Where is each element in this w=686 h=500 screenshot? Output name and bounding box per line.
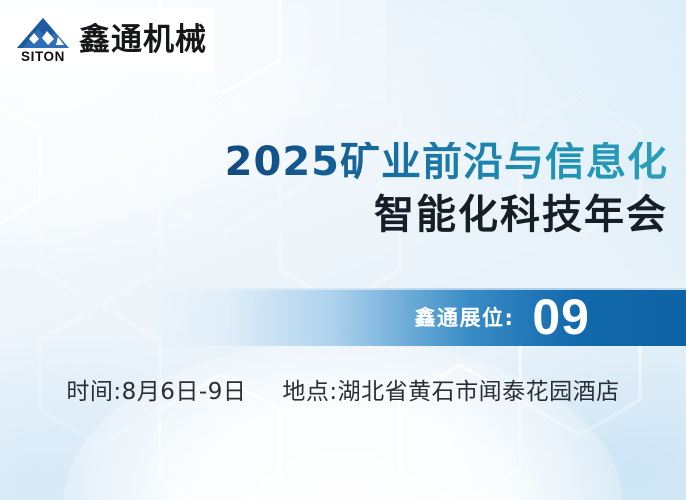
brand-logo-plate: SITON 鑫通机械 [0,8,214,72]
booth-number: 09 [532,292,590,342]
booth-banner: 鑫通展位: 09 [150,288,686,346]
brand-chinese-name: 鑫通机械 [79,25,207,56]
event-venue: 地点:湖北省黄石市闻泰花园酒店 [282,372,619,406]
headline-line-1: 2025矿业前沿与信息化 [225,142,668,184]
siton-mountain-logo-icon: SITON [14,17,72,63]
event-poster: SITON 鑫通机械 2025矿业前沿与信息化 智能化科技年会 鑫通展位: 09… [0,0,686,500]
event-info-row: 时间:8月6日-9日 地点:湖北省黄石市闻泰花园酒店 [0,372,686,406]
hexagon-pattern-icon [0,0,686,500]
background-decoration [0,0,686,500]
background-tint-bottom-right [426,320,686,500]
mountain-glyph-icon [14,17,72,51]
siton-wordmark: SITON [14,50,72,64]
background-glow-bottom [63,340,623,500]
poster-headline: 2025矿业前沿与信息化 智能化科技年会 [225,142,668,235]
booth-label: 鑫通展位: [414,302,514,332]
headline-line-2: 智能化科技年会 [225,195,668,235]
event-date: 时间:8月6日-9日 [66,372,246,406]
background-tint-bottom-left [0,330,260,500]
